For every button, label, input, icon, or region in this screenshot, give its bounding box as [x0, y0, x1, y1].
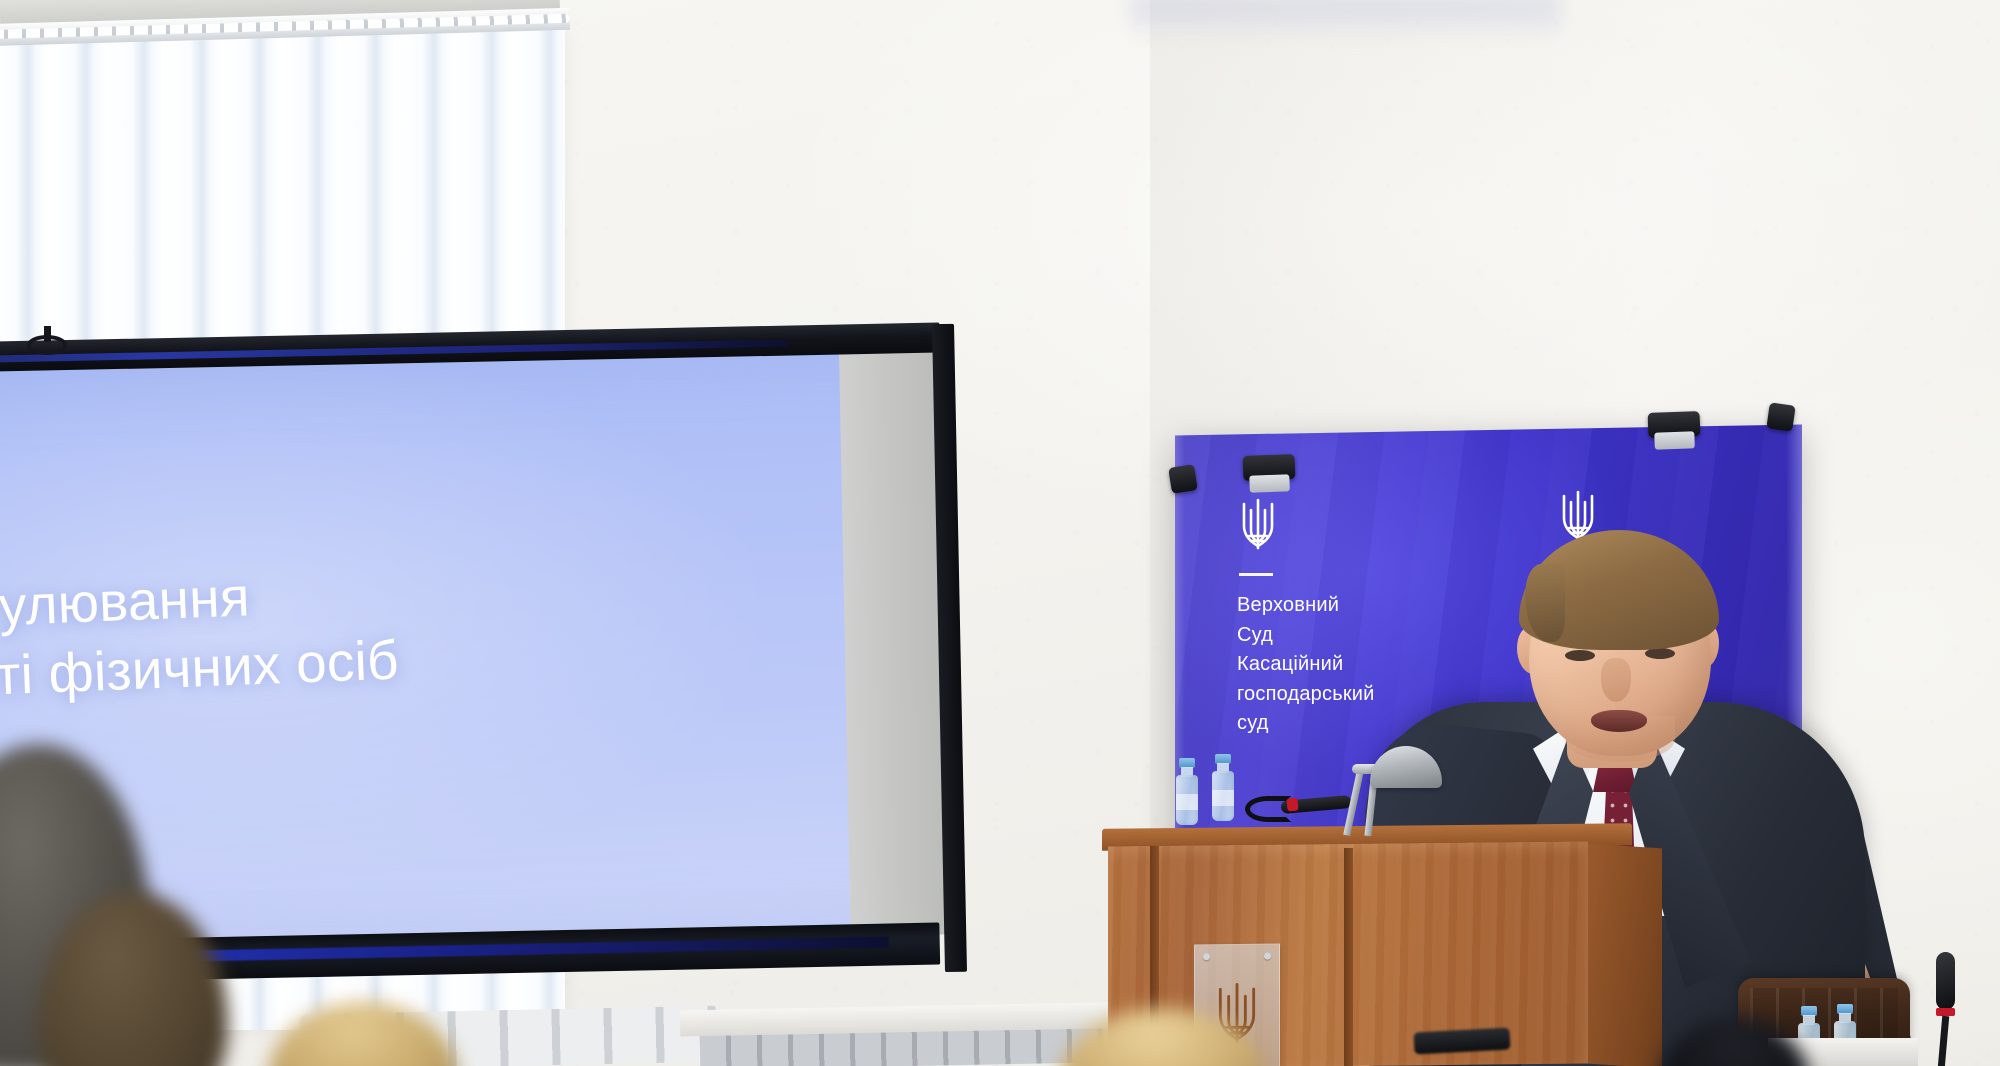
banner-clip-icon — [1648, 411, 1701, 438]
backdrop-logo-block-1: Верховний Суд Касаційний господарський с… — [1237, 496, 1375, 739]
speaker-mouth — [1591, 710, 1647, 732]
backdrop-line-3: Касаційний — [1237, 650, 1375, 680]
conference-photo: рховний Принципи врегулювання неплатоспр… — [0, 0, 2000, 1066]
banner-clip-icon — [1766, 402, 1795, 431]
banner-clip-icon — [1243, 454, 1296, 481]
ukraine-trident-icon — [1237, 496, 1375, 557]
backdrop-line-5: суд — [1237, 709, 1375, 739]
podium-groove — [1344, 848, 1353, 1066]
backdrop-line-4: господарський — [1237, 680, 1375, 710]
logo-divider-rule — [1239, 573, 1273, 576]
screen-unused-strip — [839, 345, 946, 937]
screen-hook-icon — [25, 326, 69, 354]
table-microphone-icon — [1928, 952, 1962, 1066]
banner-clip-icon — [1168, 464, 1198, 494]
podium-side-panel — [1588, 844, 1662, 1066]
ceiling-smudge — [1130, 0, 1560, 42]
speaker-nose — [1601, 658, 1631, 702]
podium-desk-lamp — [1322, 746, 1442, 836]
speaker-eye-left — [1565, 650, 1595, 661]
speaker-hair — [1519, 530, 1719, 650]
backdrop-line-1: Верховний — [1237, 591, 1375, 621]
backdrop-line-2: Суд — [1237, 621, 1375, 651]
